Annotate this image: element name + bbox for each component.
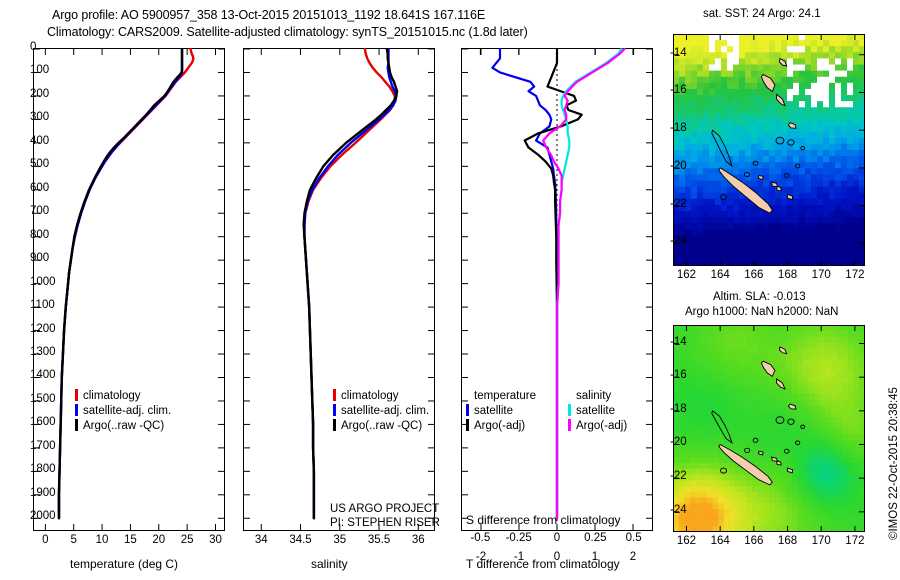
difference-legend-salinity-column: salinity satellite Argo(-adj): [568, 389, 627, 434]
difference-panel: [461, 48, 653, 531]
s-difference-axis-label: S difference from climatology: [466, 513, 621, 527]
legend-label-sal-argo-adj: Argo(-adj): [576, 420, 627, 432]
legend-label-argo-raw: Argo(..raw -QC): [83, 420, 164, 432]
legend-swatch-satellite-adj: [75, 404, 78, 416]
salinity-plot: [243, 48, 435, 531]
salinity-axis-label: salinity: [311, 557, 348, 571]
plot-title-line1: Argo profile: AO 5900957_358 13-Oct-2015…: [52, 8, 485, 22]
legend-swatch-temp-argo-adj: [466, 419, 469, 431]
t-difference-axis-label: T difference from climatology: [466, 557, 620, 571]
sst-map-header: sat. SST: 24 Argo: 24.1: [703, 8, 821, 20]
tick-label: 162: [677, 269, 696, 281]
legend-swatch-climatology-sal: [333, 389, 336, 401]
legend-item-climatology-sal: climatology: [333, 389, 429, 404]
legend-swatch-satellite-adj-sal: [333, 404, 336, 416]
tick-label: 0.25: [584, 532, 606, 544]
tick-label: 162: [677, 535, 696, 547]
sla-map-header-line1: Altim. SLA: -0.013: [713, 291, 806, 303]
legend-swatch-temp-satellite: [466, 404, 469, 416]
legend-item-sal-satellite: satellite: [568, 404, 627, 419]
tick-label: 166: [744, 535, 763, 547]
tick-label: 168: [778, 535, 797, 547]
tick-label: 172: [845, 535, 864, 547]
tick-label: 0: [554, 532, 560, 544]
tick-label: 168: [778, 269, 797, 281]
legend-label-sal-satellite: satellite: [576, 405, 615, 417]
legend-label-climatology-sal: climatology: [341, 390, 399, 402]
legend-swatch-sal-satellite: [568, 404, 571, 416]
legend-header-temperature-label: temperature: [474, 390, 536, 402]
legend-label-climatology: climatology: [83, 390, 141, 402]
legend-label-satellite-adj: satellite-adj. clim.: [83, 405, 171, 417]
legend-header-salinity: salinity: [568, 389, 627, 404]
tick-label: -0.5: [470, 532, 490, 544]
plot-title-line2: Climatology: CARS2009. Satellite-adjuste…: [47, 25, 528, 39]
tick-label: 34.5: [289, 534, 311, 546]
pi-note: PI: STEPHEN RISER: [330, 517, 440, 529]
tick-label: 0.5: [626, 532, 642, 544]
tick-label: 0: [42, 534, 48, 546]
tick-label: 35.5: [368, 534, 390, 546]
legend-header-temperature: temperature: [466, 389, 536, 404]
legend-label-temp-argo-adj: Argo(-adj): [474, 420, 525, 432]
legend-item-argo-raw-sal: Argo(..raw -QC): [333, 419, 429, 434]
legend-item-satellite-adj: satellite-adj. clim.: [75, 404, 171, 419]
tick-label: 30: [209, 534, 222, 546]
legend-swatch-sal-argo-adj: [568, 419, 571, 431]
sla-map-header-line2: Argo h1000: NaN h2000: NaN: [685, 306, 838, 318]
sst-map-canvas: [673, 34, 865, 266]
salinity-legend: climatology satellite-adj. clim. Argo(..…: [333, 389, 429, 434]
legend-item-sal-argo-adj: Argo(-adj): [568, 419, 627, 434]
tick-label: 10: [96, 534, 109, 546]
temperature-panel: [33, 48, 225, 531]
temperature-legend: climatology satellite-adj. clim. Argo(..…: [75, 389, 171, 434]
legend-label-argo-raw-sal: Argo(..raw -QC): [341, 420, 422, 432]
tick-label: 36: [412, 534, 425, 546]
tick-label: -0.25: [506, 532, 532, 544]
sst-map: [673, 34, 865, 266]
tick-label: 170: [812, 269, 831, 281]
legend-swatch-argo-raw: [75, 419, 78, 431]
us-argo-project-note: US ARGO PROJECT: [330, 503, 439, 515]
tick-label: 15: [124, 534, 137, 546]
tick-label: 170: [812, 535, 831, 547]
imos-credit: ©IMOS 22-Oct-2015 20:38:45: [888, 387, 900, 540]
legend-item-argo-raw: Argo(..raw -QC): [75, 419, 171, 434]
tick-label: 34: [255, 534, 268, 546]
sla-map-canvas: [673, 325, 865, 532]
tick-label: 164: [711, 269, 730, 281]
tick-label: 20: [152, 534, 165, 546]
legend-label-temp-satellite: satellite: [474, 405, 513, 417]
legend-item-temp-argo-adj: Argo(-adj): [466, 419, 536, 434]
difference-legend-temperature-column: temperature satellite Argo(-adj): [466, 389, 536, 434]
tick-label: 5: [70, 534, 76, 546]
difference-legend: temperature satellite Argo(-adj) salinit…: [466, 389, 627, 434]
tick-label: 172: [845, 269, 864, 281]
legend-swatch-climatology: [75, 389, 78, 401]
salinity-panel: [243, 48, 435, 531]
tick-label: 25: [181, 534, 194, 546]
legend-label-satellite-adj-sal: satellite-adj. clim.: [341, 405, 429, 417]
temperature-axis-label: temperature (deg C): [70, 557, 178, 571]
legend-item-satellite-adj-sal: satellite-adj. clim.: [333, 404, 429, 419]
tick-label: 164: [711, 535, 730, 547]
tick-label: 166: [744, 269, 763, 281]
legend-header-salinity-label: salinity: [576, 390, 611, 402]
temperature-plot: [33, 48, 225, 531]
sla-map: [673, 325, 865, 532]
legend-swatch-argo-raw-sal: [333, 419, 336, 431]
legend-item-climatology: climatology: [75, 389, 171, 404]
tick-label: 35: [333, 534, 346, 546]
legend-item-temp-satellite: satellite: [466, 404, 536, 419]
tick-label: 2: [630, 551, 636, 563]
difference-plot: [461, 48, 653, 531]
